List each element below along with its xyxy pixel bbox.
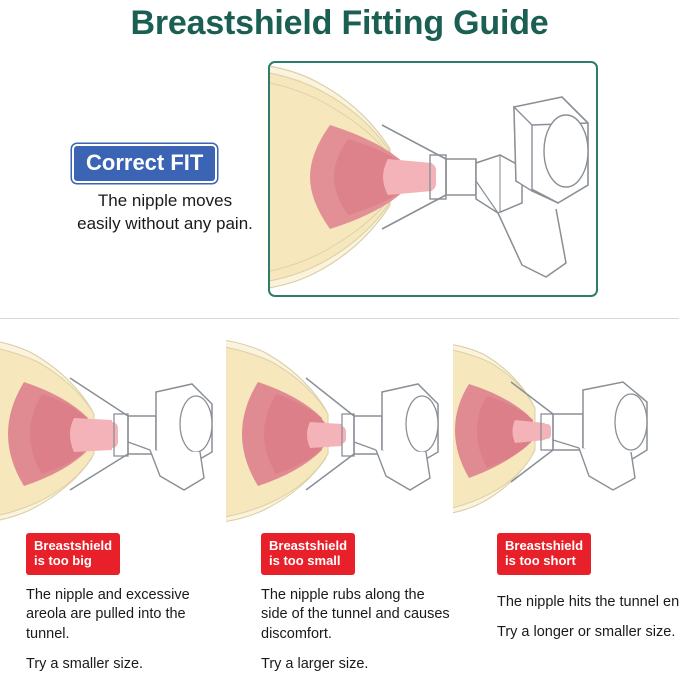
column-too-big: Breastshield is too big The nipple and e… (0, 330, 226, 657)
caption-too-big-p2: Try a smaller size. (26, 655, 216, 674)
correct-fit-description: The nipple moves easily without any pain… (60, 190, 270, 236)
caption-too-short: The nipple hits the tunnel end. Try a lo… (497, 593, 679, 643)
column-too-short: Breastshield is too short The nipple hit… (453, 330, 679, 657)
caption-too-big: The nipple and excessive areola are pull… (26, 586, 216, 674)
badge-too-small-line1: Breastshield (269, 538, 347, 553)
badge-too-big: Breastshield is too big (26, 533, 120, 575)
caption-too-short-p2: Try a longer or smaller size. (497, 623, 679, 642)
breastshield-too-big-illustration (0, 330, 226, 526)
figure-too-big (0, 330, 226, 526)
correct-fit-figure-panel (268, 61, 598, 297)
section-divider (0, 318, 679, 319)
badge-too-short: Breastshield is too short (497, 533, 591, 575)
caption-too-big-p1: The nipple and excessive areola are pull… (26, 586, 216, 644)
figure-too-short (453, 330, 679, 526)
badge-too-small: Breastshield is too small (261, 533, 355, 575)
badge-too-big-line2: is too big (34, 553, 112, 568)
badge-too-big-line1: Breastshield (34, 538, 112, 553)
correct-fit-badge: Correct FIT (72, 144, 217, 183)
correct-fit-description-line1: The nipple moves (60, 190, 270, 213)
incorrect-fit-columns: Breastshield is too big The nipple and e… (0, 330, 679, 657)
breast-with-correctly-fitted-breastshield-illustration (270, 63, 592, 291)
fitting-guide-page: Breastshield Fitting Guide (0, 0, 679, 657)
caption-too-small-p1: The nipple rubs along the side of the tu… (261, 586, 451, 644)
caption-too-small-p2: Try a larger size. (261, 655, 451, 674)
badge-too-short-line1: Breastshield (505, 538, 583, 553)
correct-fit-description-line2: easily without any pain. (60, 213, 270, 236)
figure-too-small (226, 330, 452, 526)
breastshield-too-small-illustration (226, 330, 452, 526)
caption-too-small: The nipple rubs along the side of the tu… (261, 586, 451, 674)
caption-too-short-p1: The nipple hits the tunnel end. (497, 593, 679, 612)
column-too-small: Breastshield is too small The nipple rub… (226, 330, 452, 657)
badge-too-small-line2: is too small (269, 553, 347, 568)
page-title: Breastshield Fitting Guide (0, 0, 679, 42)
breastshield-too-short-illustration (453, 330, 679, 526)
badge-too-short-line2: is too short (505, 553, 583, 568)
